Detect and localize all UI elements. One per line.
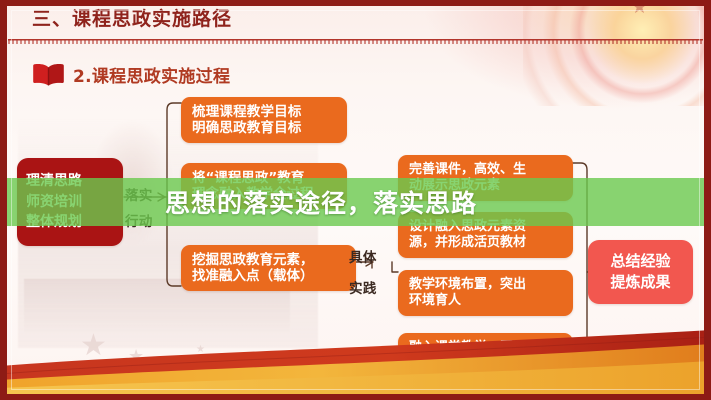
diagram-node-excavate[interactable]: 挖掘思政教育元素， 找准融入点（载体） <box>181 245 356 291</box>
diagram-node-goals[interactable]: 梳理课程教学目标 明确思政教育目标 <box>181 97 347 143</box>
node-line: 找准融入点（载体） <box>192 268 345 284</box>
open-book-icon <box>33 63 64 86</box>
node-line: 总结经验 <box>597 251 684 272</box>
node-line: 完善课件，高效、生 <box>409 162 562 178</box>
section-subtitle-text: 2.课程思政实施过程 <box>73 62 230 87</box>
overlay-banner-text: 思想的落实途径，落实思路 <box>165 184 477 220</box>
slide-canvas: ★ ★ ★ ★ ★ 三、课程思政实施路径 2.课程思政实施过程 <box>0 0 711 400</box>
diagram-node-environment[interactable]: 教学环境布置，突出 环境育人 <box>398 270 573 316</box>
node-line: 教学环境布置，突出 <box>409 277 562 293</box>
diagram-node-summary[interactable]: 总结经验 提炼成果 <box>588 240 693 304</box>
node-line: 梳理课程教学目标 <box>192 104 336 120</box>
bottom-wave-decoration <box>0 328 711 400</box>
node-line: 提炼成果 <box>597 272 684 293</box>
overlay-banner: 思想的落实途径，落实思路 <box>0 178 711 226</box>
page-title: 三、课程思政实施路径 <box>32 4 232 31</box>
diagram-label-practice: 实践 <box>349 277 377 297</box>
node-line: 明确思政教育目标 <box>192 120 336 136</box>
node-line: 环境育人 <box>409 293 562 309</box>
node-line: 挖掘思政教育元素， <box>192 252 345 268</box>
header-divider <box>8 39 703 44</box>
section-subtitle: 2.课程思政实施过程 <box>33 62 230 87</box>
diagram-label-concrete: 具体 <box>349 246 377 266</box>
node-line: 源，并形成活页教材 <box>409 235 562 251</box>
